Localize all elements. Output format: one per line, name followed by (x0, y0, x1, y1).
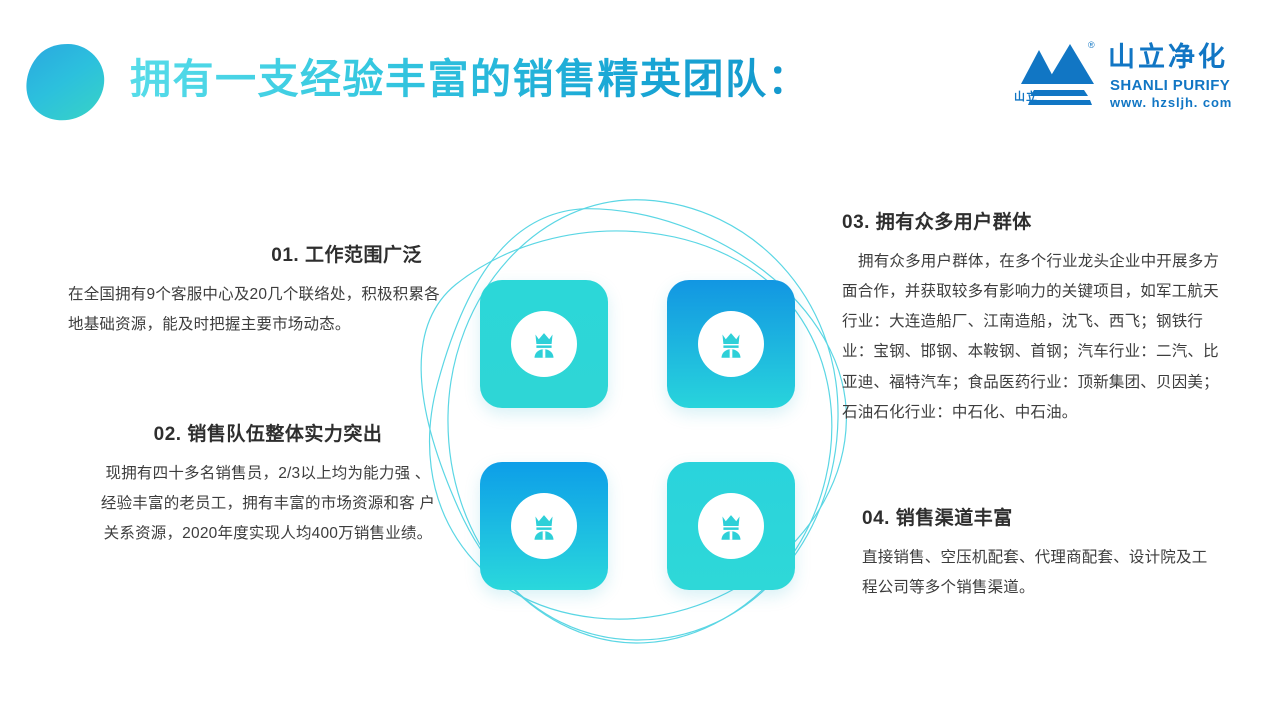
block-04-body: 直接销售、空压机配套、代理商配套、设计院及工程公司等多个销售渠道。 (862, 543, 1222, 603)
block-01-heading: 01. 工作范围广泛 (68, 245, 440, 268)
tile-bottom-left[interactable] (480, 462, 608, 590)
icon-tile-grid (480, 280, 800, 600)
content-block-01: 01. 工作范围广泛 在全国拥有9个客服中心及20几个联络处，积极积累各地基础资… (68, 245, 440, 340)
crown-person-icon (511, 311, 577, 377)
block-04-heading: 04. 销售渠道丰富 (862, 508, 1222, 531)
content-block-02: 02. 销售队伍整体实力突出 现拥有四十多名销售员，2/3以上均为能力强 、 经… (96, 424, 440, 549)
block-03-body: 拥有众多用户群体，在多个行业龙头企业中开展多方面合作，并获取较多有影响力的关键项… (842, 247, 1222, 428)
block-03-heading: 03. 拥有众多用户群体 (842, 212, 1222, 235)
block-02-body: 现拥有四十多名销售员，2/3以上均为能力强 、 经验丰富的老员工，拥有丰富的市场… (96, 459, 440, 550)
logo-name-en: SHANLI PURIFY (1110, 78, 1230, 93)
content-block-04: 04. 销售渠道丰富 直接销售、空压机配套、代理商配套、设计院及工程公司等多个销… (862, 508, 1222, 603)
logo-mark-label: 山立 (1014, 92, 1038, 103)
logo-website: www. hzsljh. com (1110, 96, 1232, 109)
tile-bottom-right[interactable] (667, 462, 795, 590)
registered-trademark-icon: ® (1088, 40, 1095, 50)
logo-name-cn: 山立净化 (1108, 44, 1228, 71)
tile-top-left[interactable] (480, 280, 608, 408)
page-title: 拥有一支经验丰富的销售精英团队： (130, 56, 810, 103)
content-block-03: 03. 拥有众多用户群体 拥有众多用户群体，在多个行业龙头企业中开展多方面合作，… (842, 212, 1222, 428)
slide-header: 拥有一支经验丰富的销售精英团队： 山立 ® 山立净化 SHANLI PURIFY… (0, 0, 1280, 150)
title-blob-decoration (24, 42, 106, 122)
crown-person-icon (698, 311, 764, 377)
block-02-heading: 02. 销售队伍整体实力突出 (96, 424, 440, 447)
tile-top-right[interactable] (667, 280, 795, 408)
crown-person-icon (698, 493, 764, 559)
company-logo: 山立 ® 山立净化 SHANLI PURIFY www. hzsljh. com (1012, 38, 1242, 116)
slide-root: 拥有一支经验丰富的销售精英团队： 山立 ® 山立净化 SHANLI PURIFY… (0, 0, 1280, 720)
center-graphic (420, 178, 870, 668)
block-01-body: 在全国拥有9个客服中心及20几个联络处，积极积累各地基础资源，能及时把握主要市场… (68, 280, 440, 340)
crown-person-icon (511, 493, 577, 559)
